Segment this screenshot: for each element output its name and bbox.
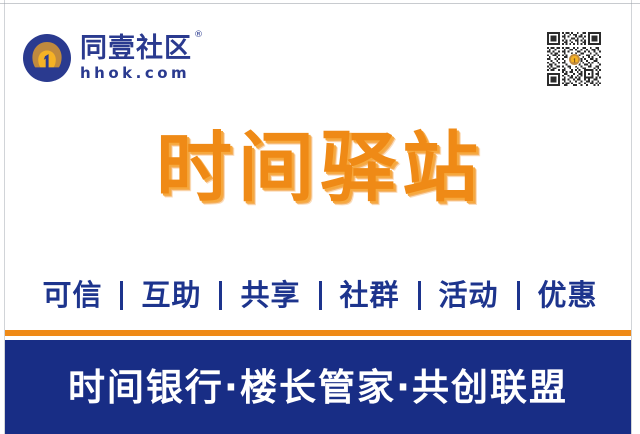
keyword-strip: 可信 互助 共享 社群 活动 优惠 <box>0 281 640 310</box>
bottom-banner-text: 时间银行·楼长管家·共创联盟 <box>68 369 568 406</box>
frame-edge-right <box>631 0 632 434</box>
keyword-item-5: 优惠 <box>536 281 600 310</box>
hhok-community-emblem-icon <box>22 33 72 83</box>
qr-center-emblem-icon <box>568 53 581 66</box>
keyword-separator-3 <box>418 281 421 310</box>
keyword-item-1: 互助 <box>139 281 203 310</box>
headline-title: 时间驿站 <box>0 130 640 206</box>
keyword-item-3: 社群 <box>338 281 402 310</box>
keyword-item-0: 可信 <box>40 281 104 310</box>
frame-edge-top <box>0 3 640 4</box>
keyword-separator-1 <box>219 281 222 310</box>
keyword-separator-4 <box>517 281 520 310</box>
qr-code[interactable] <box>546 31 602 88</box>
frame-edge-left <box>4 0 5 434</box>
orange-divider-rule <box>5 330 631 336</box>
registered-trademark-icon: ® <box>194 31 204 40</box>
keyword-separator-2 <box>319 281 322 310</box>
keyword-separator-0 <box>120 281 123 310</box>
keyword-item-4: 活动 <box>437 281 501 310</box>
logo-domain: hhok.com <box>80 66 192 81</box>
logo-company-name-text: 同壹社区 <box>80 33 192 64</box>
logo-wordmark: 同壹社区 ® hhok.com <box>80 35 192 81</box>
poster-canvas: 同壹社区 ® hhok.com <box>0 0 640 434</box>
logo-company-name-cn: 同壹社区 ® <box>80 35 192 62</box>
brand-logo: 同壹社区 ® hhok.com <box>22 33 192 83</box>
keyword-item-2: 共享 <box>238 281 302 310</box>
bottom-banner: 时间银行·楼长管家·共创联盟 <box>5 340 631 434</box>
